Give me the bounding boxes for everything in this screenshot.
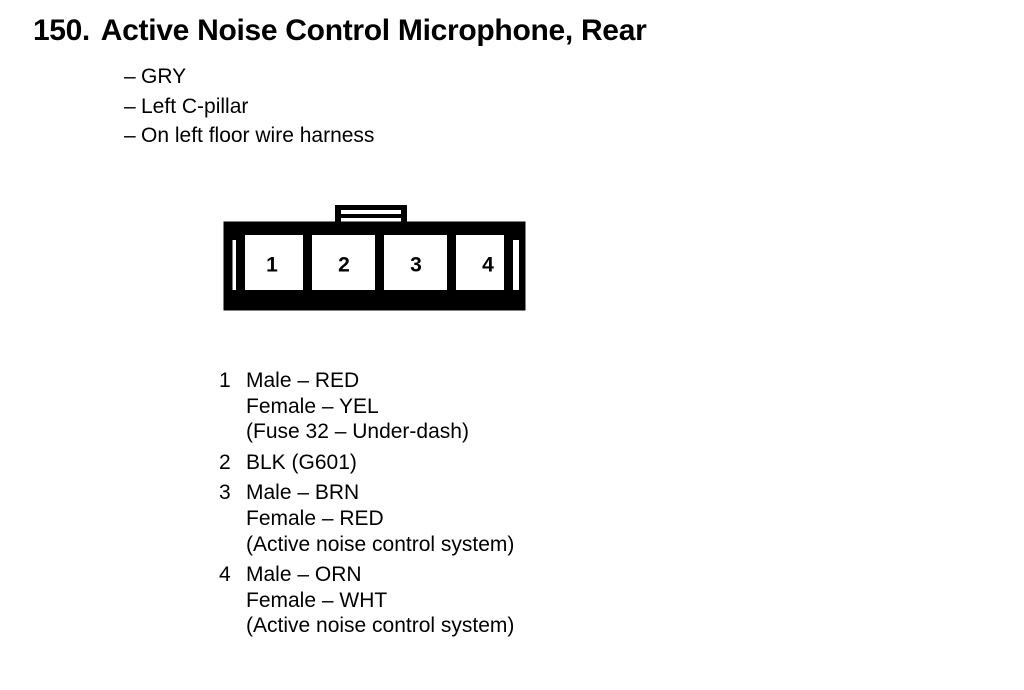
pin-number: 4 bbox=[219, 562, 246, 588]
pin-line: (Active noise control system) bbox=[246, 532, 819, 558]
pin-number: 3 bbox=[219, 480, 246, 506]
pin-description: BLK (G601) bbox=[246, 450, 819, 476]
list-item-label: On left floor wire harness bbox=[141, 121, 374, 151]
pin-number: 1 bbox=[219, 368, 246, 394]
list-item: – Left C-pillar bbox=[124, 92, 374, 122]
section-number: 150. bbox=[33, 13, 90, 49]
list-item: – GRY bbox=[124, 62, 374, 92]
pin-line: BLK (G601) bbox=[246, 450, 819, 476]
pin-line: (Active noise control system) bbox=[246, 613, 819, 639]
connector-diagram: 1 2 3 4 bbox=[222, 198, 527, 316]
cavity-number-1: 1 bbox=[266, 254, 278, 277]
pin-entry: 4 Male – ORN Female – WHT (Active noise … bbox=[219, 562, 819, 639]
pin-description: Male – ORN Female – WHT (Active noise co… bbox=[246, 562, 819, 639]
title-text: Active Noise Control Microphone, Rear bbox=[101, 13, 647, 49]
dash-icon: – bbox=[124, 92, 141, 122]
dash-icon: – bbox=[124, 121, 141, 151]
pin-line: Male – BRN bbox=[246, 480, 819, 506]
attribute-list: – GRY – Left C-pillar – On left floor wi… bbox=[124, 62, 374, 151]
pin-description: Male – RED Female – YEL (Fuse 32 – Under… bbox=[246, 368, 819, 445]
pin-entry: 1 Male – RED Female – YEL (Fuse 32 – Und… bbox=[219, 368, 819, 445]
list-item-label: GRY bbox=[141, 62, 186, 92]
cavity-number-4: 4 bbox=[482, 254, 494, 277]
page-title: 150. Active Noise Control Microphone, Re… bbox=[33, 13, 646, 49]
pin-description: Male – BRN Female – RED (Active noise co… bbox=[246, 480, 819, 557]
pin-line: Male – ORN bbox=[246, 562, 819, 588]
dash-icon: – bbox=[124, 62, 141, 92]
pin-entry: 3 Male – BRN Female – RED (Active noise … bbox=[219, 480, 819, 557]
pin-line: Female – RED bbox=[246, 506, 819, 532]
pin-line: (Fuse 32 – Under-dash) bbox=[246, 419, 819, 445]
pin-line: Female – YEL bbox=[246, 394, 819, 420]
pin-line: Female – WHT bbox=[246, 588, 819, 614]
list-item-label: Left C-pillar bbox=[141, 92, 248, 122]
list-item: – On left floor wire harness bbox=[124, 121, 374, 151]
pin-legend: 1 Male – RED Female – YEL (Fuse 32 – Und… bbox=[219, 368, 819, 644]
pin-line: Male – RED bbox=[246, 368, 819, 394]
cavity-number-2: 2 bbox=[338, 254, 350, 277]
pin-number: 2 bbox=[219, 450, 246, 476]
pin-entry: 2 BLK (G601) bbox=[219, 450, 819, 476]
cavity-number-3: 3 bbox=[410, 254, 422, 277]
